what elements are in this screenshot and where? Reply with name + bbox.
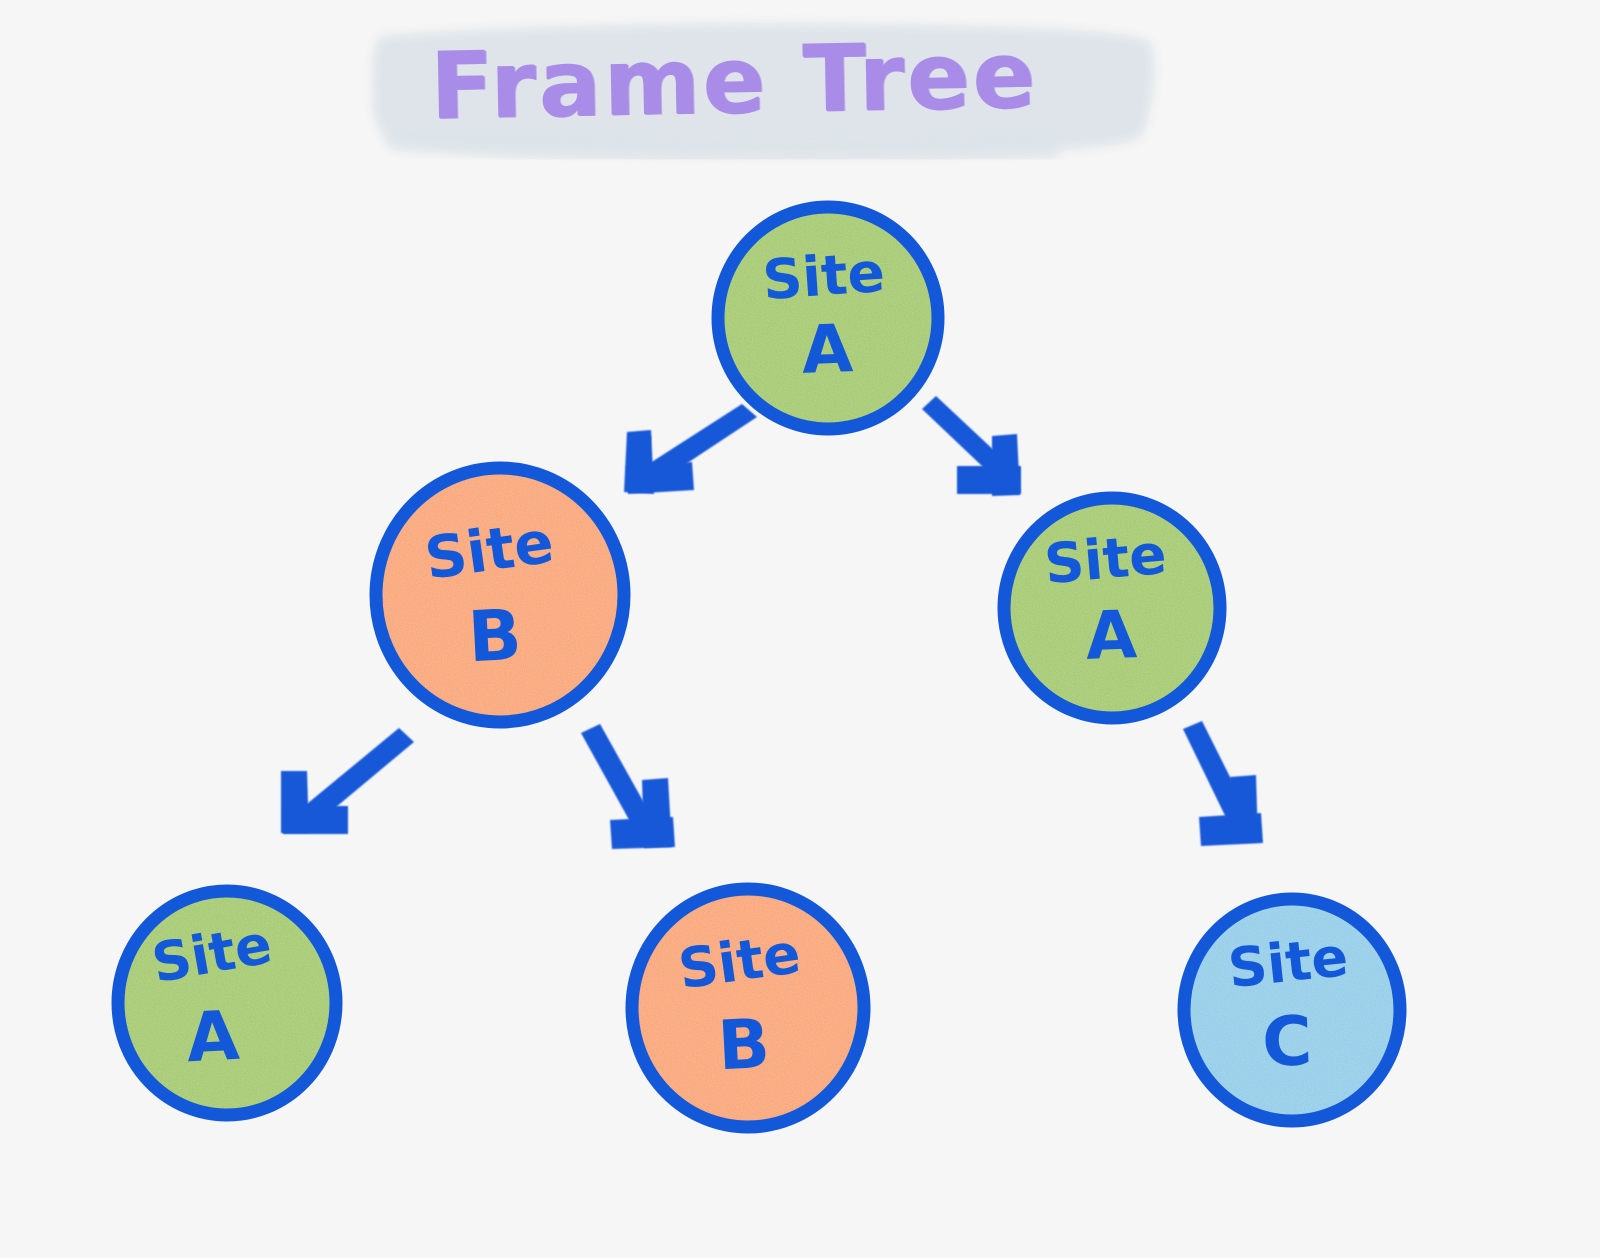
node-mid-right-site-a[interactable]: Site A <box>1004 498 1220 718</box>
arrow-site-b-to-site-b-mid <box>581 724 675 849</box>
frame-tree-svg: Site A Site B Site A Site <box>0 0 1600 1258</box>
arrow-site-b-to-site-a-left <box>281 728 414 834</box>
node-mid-left-site-b[interactable]: Site B <box>376 468 624 722</box>
node-leaf-right-site-c[interactable]: Site C <box>1184 899 1400 1121</box>
arrow-site-a-to-site-c <box>1183 721 1263 846</box>
node-root-site-a[interactable]: Site A <box>718 207 938 429</box>
diagram-canvas: Frame Tree <box>0 0 1600 1258</box>
node-leaf-mid-site-b[interactable]: Site B <box>632 889 864 1127</box>
arrow-root-to-site-b <box>624 404 757 494</box>
arrow-root-to-site-a-right <box>922 396 1021 496</box>
nodes-layer: Site A Site B Site A Site <box>118 207 1400 1127</box>
node-leaf-left-site-a[interactable]: Site A <box>118 891 336 1115</box>
